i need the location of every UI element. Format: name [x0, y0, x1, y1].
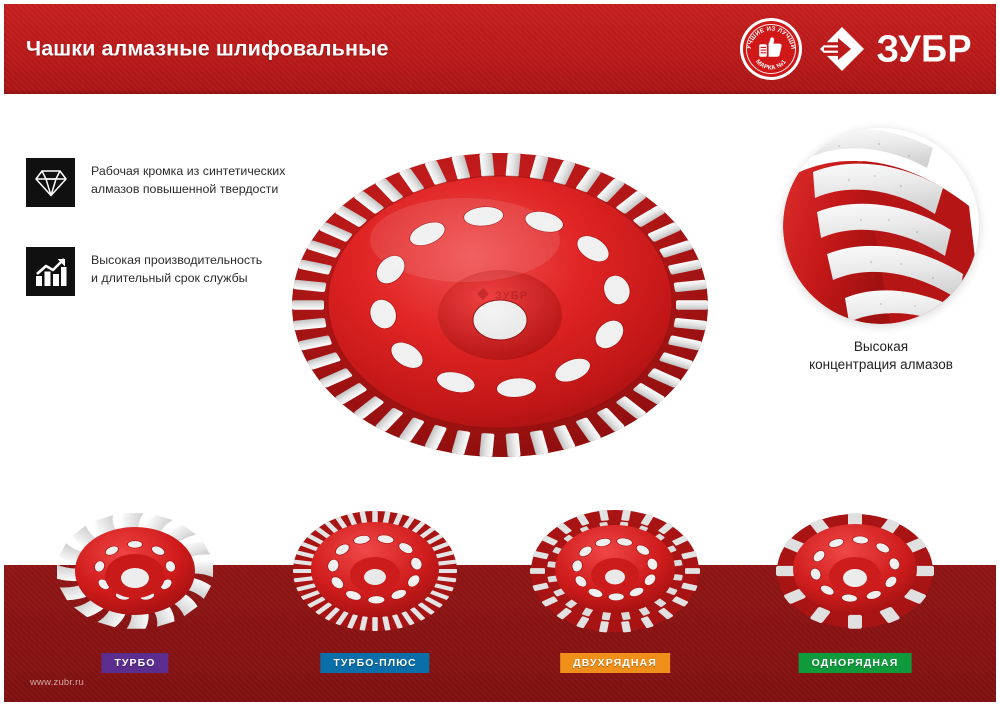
diamond-icon: [35, 168, 67, 198]
variant-item-turbo[interactable]: ТУРБО: [20, 496, 250, 686]
variant-thumbnail-row: ТУРБО: [0, 496, 1000, 686]
page-title: Чашки алмазные шлифовальные: [26, 37, 389, 62]
cup-wheel-turbo-plus-icon: [280, 496, 470, 646]
svg-text:ЗУБР: ЗУБР: [495, 290, 528, 302]
feature-icon-wrap: [26, 158, 75, 207]
variant-label: ДВУХРЯДНАЯ: [560, 653, 670, 673]
feature-line-1: Рабочая кромка из синтетических: [91, 163, 285, 181]
callout-caption-line-2: концентрация алмазов: [775, 356, 987, 374]
variant-item-double-row[interactable]: ДВУХРЯДНАЯ: [500, 496, 730, 686]
header-bar: Чашки алмазные шлифовальные ЛУЧШИЕ ИЗ ЛУ…: [4, 4, 996, 94]
hero-product-image: ЗУБР: [285, 130, 715, 475]
feature-text: Рабочая кромка из синтетических алмазов …: [91, 158, 285, 199]
product-poster: Чашки алмазные шлифовальные ЛУЧШИЕ ИЗ ЛУ…: [0, 0, 1000, 706]
feature-item: Рабочая кромка из синтетических алмазов …: [26, 158, 306, 207]
zubr-wordmark: ЗУБР: [818, 25, 972, 73]
variant-label: ОДНОРЯДНАЯ: [799, 653, 912, 673]
callout-circle: [783, 128, 979, 324]
cup-wheel-single-row-icon: [760, 496, 950, 646]
badge-arc-text: ЛУЧШИЕ ИЗ ЛУЧШИХ МАРКА №1: [743, 21, 799, 77]
feature-list: Рабочая кромка из синтетических алмазов …: [26, 158, 306, 336]
brand-name: ЗУБР: [877, 30, 972, 68]
badge-top-label: ЛУЧШИЕ ИЗ ЛУЧШИХ: [743, 21, 796, 50]
feature-text: Высокая производительность и длительный …: [91, 247, 262, 288]
segment-closeup-icon: [783, 128, 979, 324]
brand-logo-cluster: ЛУЧШИЕ ИЗ ЛУЧШИХ МАРКА №1: [740, 18, 972, 80]
callout-caption-line-1: Высокая: [775, 338, 987, 356]
variant-label: ТУРБО-ПЛЮС: [320, 653, 429, 673]
badge-bottom-label: МАРКА №1: [754, 58, 788, 72]
zubr-arrow-diamond-icon: [818, 25, 866, 73]
feature-item: Высокая производительность и длительный …: [26, 247, 306, 296]
growth-chart-icon: [35, 257, 67, 287]
cup-wheel-double-row-icon: [520, 496, 710, 646]
detail-callout: Высокая концентрация алмазов: [775, 128, 987, 374]
quality-badge: ЛУЧШИЕ ИЗ ЛУЧШИХ МАРКА №1: [740, 18, 802, 80]
callout-caption: Высокая концентрация алмазов: [775, 338, 987, 374]
feature-line-2: алмазов повышенной твердости: [91, 181, 285, 199]
diamond-cup-wheel-illustration: ЗУБР: [285, 130, 715, 475]
variant-item-turbo-plus[interactable]: ТУРБО-ПЛЮС: [260, 496, 490, 686]
variant-label: ТУРБО: [101, 653, 168, 673]
feature-icon-wrap: [26, 247, 75, 296]
feature-line-2: и длительный срок службы: [91, 270, 262, 288]
variant-item-single-row[interactable]: ОДНОРЯДНАЯ: [740, 496, 970, 686]
feature-line-1: Высокая производительность: [91, 252, 262, 270]
cup-wheel-turbo-icon: [40, 496, 230, 646]
